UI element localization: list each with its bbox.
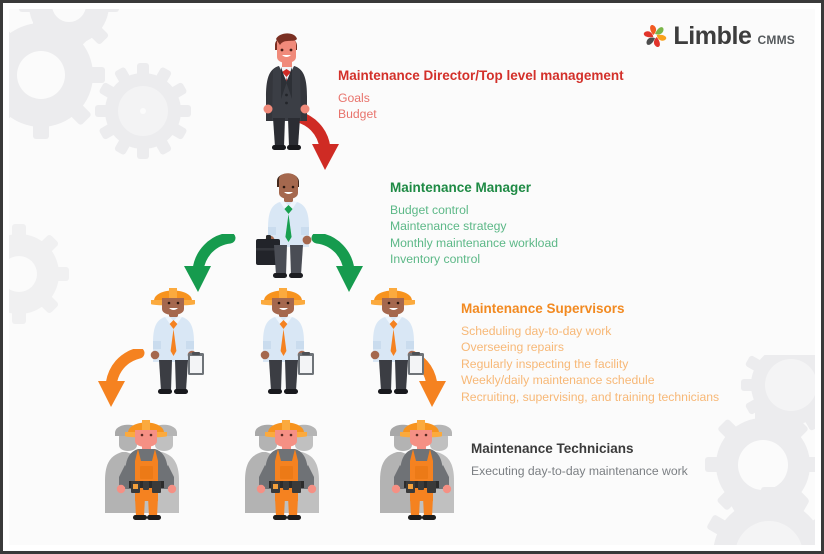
figure-maintenance-technician-group <box>372 409 470 525</box>
manager-item-list: Budget control Maintenance strategy Mont… <box>390 202 558 268</box>
manager-title: Maintenance Manager <box>390 181 558 196</box>
supervisor-title: Maintenance Supervisors <box>461 302 719 317</box>
figure-maintenance-supervisor <box>360 279 428 397</box>
supervisor-item-list: Scheduling day-to-day work Overseeing re… <box>461 323 719 406</box>
supervisor-item: Scheduling day-to-day work <box>461 323 719 340</box>
limble-cmms-logo: Limble CMMS <box>642 23 795 49</box>
pinwheel-logo-icon <box>642 23 668 49</box>
figure-maintenance-technician-group <box>237 409 335 525</box>
arrow-supervisor-to-technician-left <box>87 349 147 411</box>
figure-maintenance-technician-group <box>97 409 195 525</box>
text-block-director: Maintenance Director/Top level managemen… <box>338 69 624 123</box>
figure-maintenance-manager <box>252 165 324 281</box>
technician-title: Maintenance Technicians <box>471 442 688 457</box>
technician-item: Executing day-to-day maintenance work <box>471 463 688 480</box>
figure-maintenance-director <box>251 25 323 153</box>
supervisor-item: Regularly inspecting the facility <box>461 356 719 373</box>
background-gears-top-left <box>9 9 199 189</box>
manager-item: Monthly maintenance workload <box>390 235 558 252</box>
manager-item: Inventory control <box>390 251 558 268</box>
text-block-supervisor: Maintenance Supervisors Scheduling day-t… <box>461 302 719 405</box>
manager-item: Budget control <box>390 202 558 219</box>
supervisor-item: Overseeing repairs <box>461 339 719 356</box>
text-block-manager: Maintenance Manager Budget control Maint… <box>390 181 558 268</box>
slide-stage: Limble CMMS <box>9 9 815 545</box>
director-item-list: Goals Budget <box>338 90 624 123</box>
director-item: Budget <box>338 106 624 123</box>
director-item: Goals <box>338 90 624 107</box>
logo-suffix: CMMS <box>758 33 795 49</box>
logo-wordmark: Limble <box>673 24 751 49</box>
slide-canvas: Limble CMMS <box>0 0 824 554</box>
figure-maintenance-supervisor <box>140 279 208 397</box>
figure-maintenance-supervisor <box>250 279 318 397</box>
background-gears-middle-left <box>9 214 93 334</box>
supervisor-item: Weekly/daily maintenance schedule <box>461 372 719 389</box>
director-title: Maintenance Director/Top level managemen… <box>338 69 624 84</box>
text-block-technician: Maintenance Technicians Executing day-to… <box>471 442 688 479</box>
manager-item: Maintenance strategy <box>390 218 558 235</box>
technician-item-list: Executing day-to-day maintenance work <box>471 463 688 480</box>
supervisor-item: Recruiting, supervising, and training te… <box>461 389 719 406</box>
